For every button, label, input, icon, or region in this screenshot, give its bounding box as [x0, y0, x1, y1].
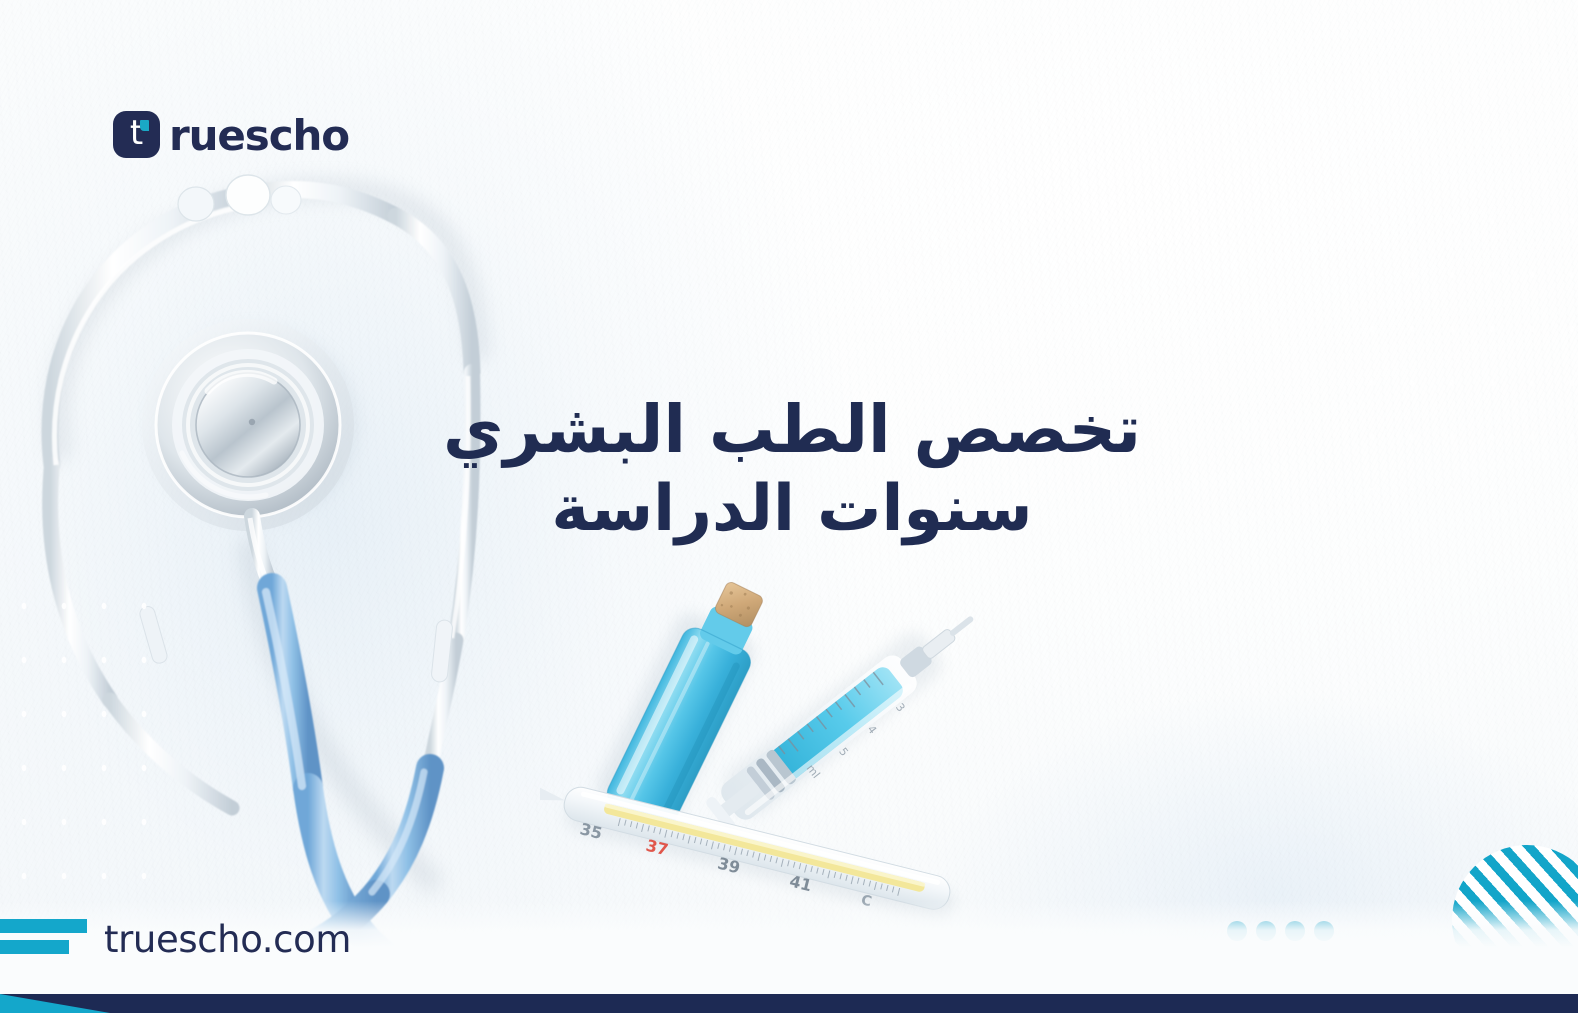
footer-website-url[interactable]: truescho.com [104, 918, 351, 961]
footer-bar-bottom [0, 940, 69, 954]
headline-line-2: سنوات الدراسة [432, 473, 1152, 546]
stethoscope-chestpiece [142, 319, 354, 531]
page-title: تخصص الطب البشري سنوات الدراسة [432, 392, 1152, 546]
thermometer-tick-37: 37 [644, 836, 670, 860]
thermometer-tick-39: 39 [716, 854, 742, 878]
footer-bars-icon [0, 919, 92, 957]
thermometer-tick-35: 35 [578, 819, 604, 843]
logo-badge-icon: t [113, 111, 160, 158]
logo-wordmark: ruescho [169, 111, 349, 160]
logo-accent-shape [140, 120, 149, 131]
medical-kit-illustration: 3 4 5 ml [540, 540, 1280, 960]
thermometer-tick-41: 41 [788, 871, 814, 895]
footer-teal-accent [0, 994, 110, 1013]
brand-logo[interactable]: t ruescho [113, 110, 349, 159]
banner-canvas: 3 4 5 ml [0, 0, 1578, 1013]
footer-band: truescho.com [0, 901, 1578, 1013]
footer-bar-top [0, 919, 87, 933]
headline-line-1: تخصص الطب البشري [432, 392, 1152, 467]
footer-navy-bar [0, 994, 1578, 1013]
